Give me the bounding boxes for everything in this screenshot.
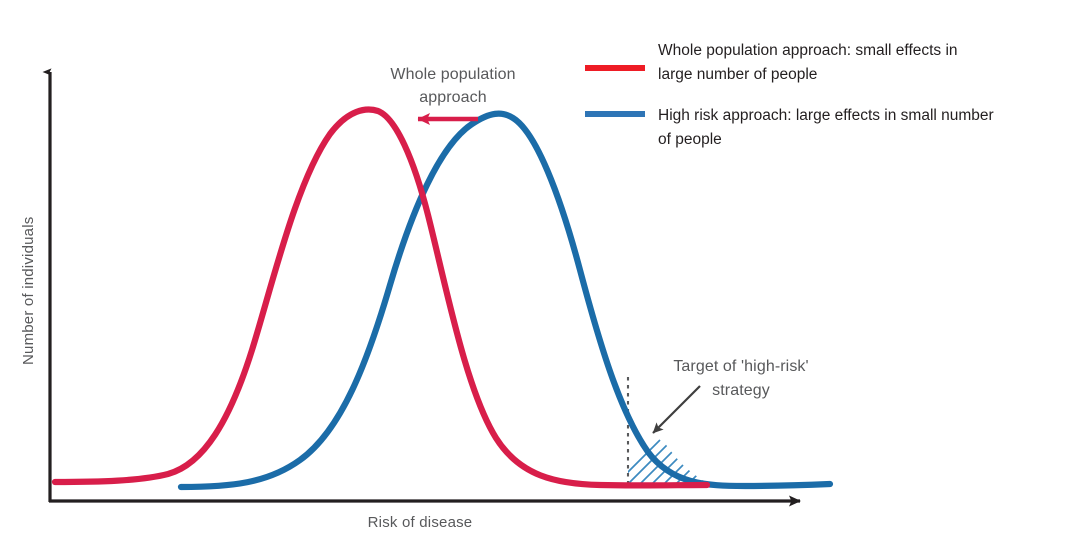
legend-label-whole-population-line1: Whole population approach: small effects… bbox=[658, 42, 958, 59]
legend-label-whole-population-line2: large number of people bbox=[658, 66, 817, 83]
legend-label-high-risk-line1: High risk approach: large effects in sma… bbox=[658, 107, 994, 124]
high-risk-annotation-line1: Target of 'high-risk' bbox=[673, 358, 808, 375]
legend-label-high-risk-line2: of people bbox=[658, 131, 722, 148]
high-risk-annotation-arrow bbox=[653, 386, 700, 433]
whole-population-annotation-line1: Whole population bbox=[390, 66, 515, 83]
legend-item-whole-population: Whole population approach: small effects… bbox=[585, 42, 958, 83]
y-axis-label: Number of individuals bbox=[20, 217, 37, 365]
legend: Whole population approach: small effects… bbox=[585, 42, 994, 148]
high-risk-annotation: Target of 'high-risk' strategy bbox=[653, 358, 809, 433]
risk-distribution-chart: Number of individuals Risk of disease bbox=[0, 0, 1080, 543]
chart-figure: Number of individuals Risk of disease bbox=[0, 0, 1080, 543]
legend-item-high-risk: High risk approach: large effects in sma… bbox=[585, 107, 994, 148]
high-risk-curve bbox=[181, 114, 830, 487]
high-risk-annotation-line2: strategy bbox=[712, 382, 770, 399]
x-axis-label: Risk of disease bbox=[368, 514, 473, 531]
whole-population-curve bbox=[55, 110, 707, 486]
whole-population-annotation-line2: approach bbox=[419, 89, 487, 106]
